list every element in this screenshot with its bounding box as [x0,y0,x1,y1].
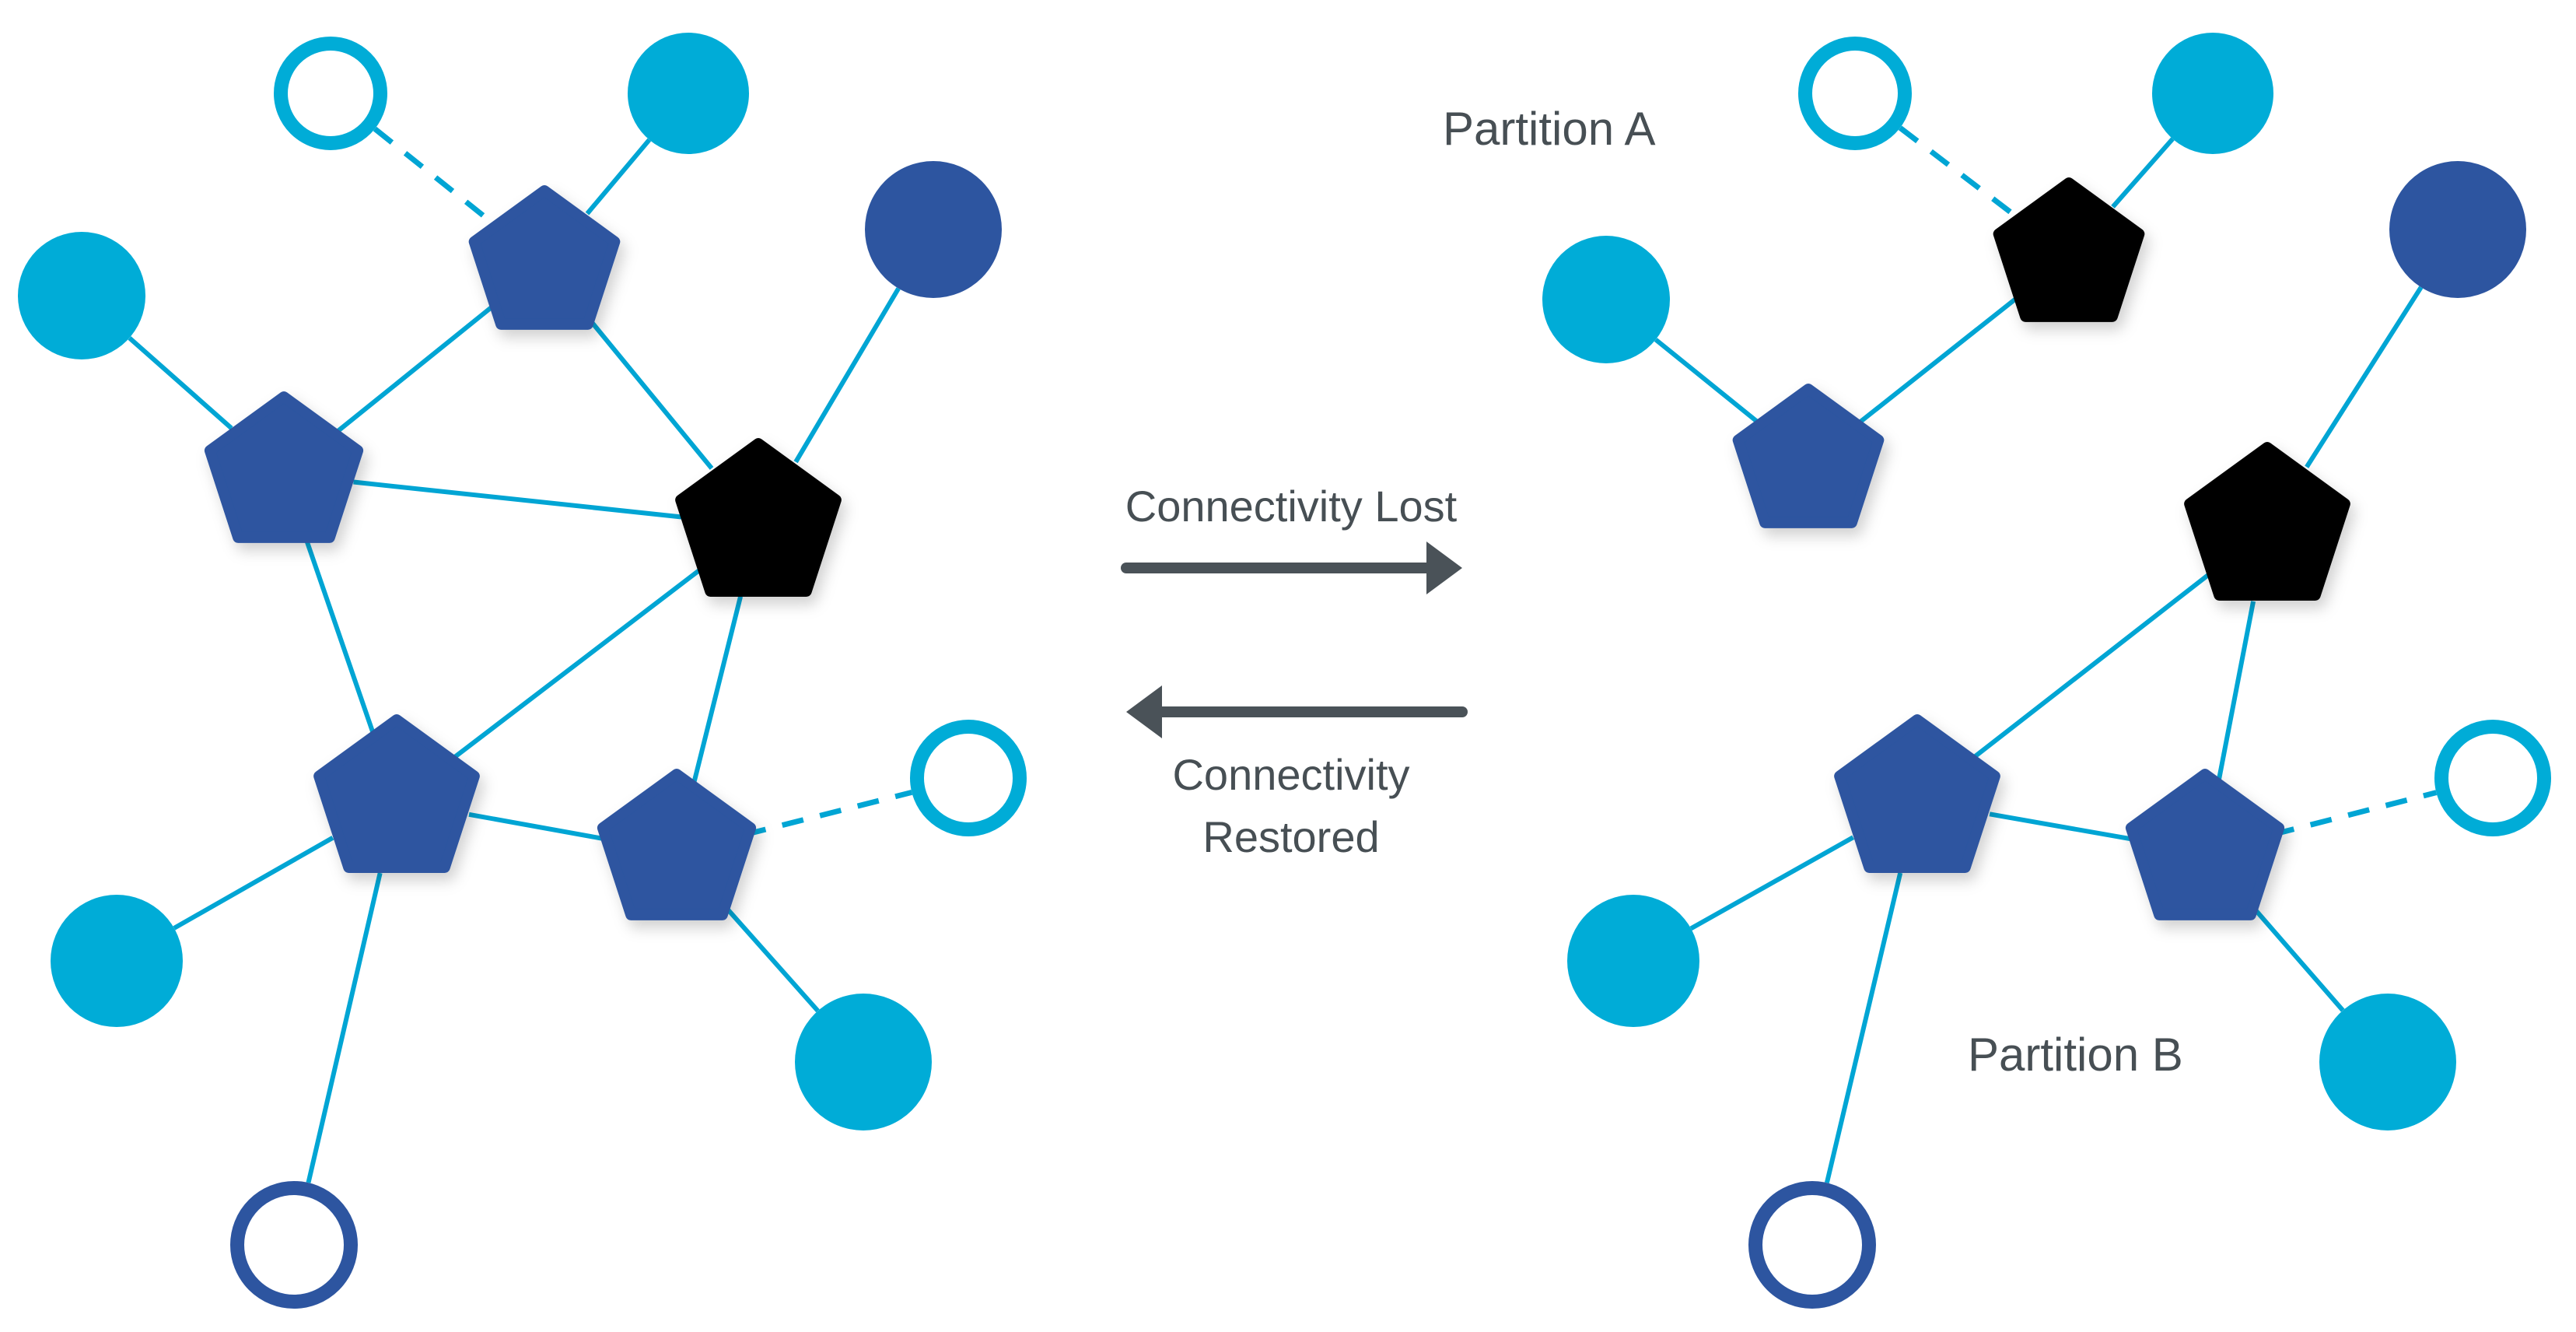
node-circle-filled[interactable] [2389,161,2526,298]
transition-arrows [1126,542,1462,738]
graph-edge-solid [353,482,685,517]
node-circle-filled[interactable] [865,161,1002,298]
graph-edge-solid [587,140,649,214]
graph-edge-solid [796,289,898,462]
node-pentagon-filled[interactable] [603,774,751,915]
graph-edge-solid [306,541,373,732]
diagram-canvas: Partition A Partition B Connectivity Los… [0,0,2576,1332]
graph-edge-dashed [1900,128,2016,216]
network-partition-svg: Partition A Partition B Connectivity Los… [0,0,2576,1332]
node-pentagon-filled[interactable] [2189,447,2345,595]
graph-edge-solid [174,838,333,928]
node-pentagon-filled[interactable] [210,397,358,538]
node-pentagon-filled[interactable] [474,191,615,324]
graph-edge-solid [2251,905,2343,1011]
node-pentagon-filled[interactable] [2131,774,2279,915]
graph-edge-dashed [2273,793,2436,835]
graph-edge-solid [723,904,818,1011]
partition-a-label: Partition A [1443,103,1656,155]
graph-edge-solid [1827,873,1900,1183]
graph-edge-solid [1691,837,1853,928]
graph-edge-solid [469,815,607,840]
graph-edge-solid [338,307,492,431]
graph-edge-solid [455,570,700,756]
graph-edge-dashed [375,129,492,223]
connectivity-lost-arrow-head [1426,542,1462,594]
connectivity-restored-label-line1: Connectivity [1172,750,1409,799]
node-circle-outline[interactable] [237,1188,351,1302]
graph-edge-solid [129,338,231,428]
graph-edge-solid [2307,287,2421,467]
graph-edge-solid [308,873,380,1183]
left-graph-nodes [18,33,1020,1302]
connectivity-restored-label-line2: Restored [1202,812,1379,861]
graph-edge-solid [2218,601,2253,783]
node-circle-filled[interactable] [1542,236,1670,363]
node-circle-filled[interactable] [795,994,932,1130]
graph-edge-solid [586,316,712,468]
graph-edge-solid [1860,298,2017,422]
connectivity-restored-arrow-head [1126,685,1162,738]
graph-edge-solid [2113,139,2173,207]
graph-edge-solid [1976,574,2210,756]
node-circle-outline[interactable] [1755,1188,1869,1302]
node-circle-filled[interactable] [51,895,183,1027]
node-pentagon-filled[interactable] [1738,389,1879,523]
node-circle-filled[interactable] [1567,895,1699,1027]
graph-edge-solid [694,597,740,784]
connectivity-lost-label: Connectivity Lost [1125,482,1458,531]
right-graph-nodes [1542,33,2544,1302]
node-circle-filled[interactable] [2152,33,2273,154]
node-pentagon-filled[interactable] [319,720,474,868]
graph-edge-solid [1990,814,2136,840]
node-circle-outline[interactable] [1805,44,1905,143]
node-circle-outline[interactable] [917,727,1020,829]
partition-b-label: Partition B [1968,1029,2183,1081]
graph-edge-solid [1656,340,1757,422]
node-circle-outline[interactable] [2441,727,2544,829]
node-circle-filled[interactable] [628,33,749,154]
graph-edge-dashed [744,792,912,834]
node-pentagon-filled[interactable] [681,443,836,591]
node-circle-filled[interactable] [18,232,145,359]
node-circle-filled[interactable] [2319,994,2456,1130]
node-pentagon-filled[interactable] [1839,720,1995,868]
node-circle-outline[interactable] [281,44,380,143]
